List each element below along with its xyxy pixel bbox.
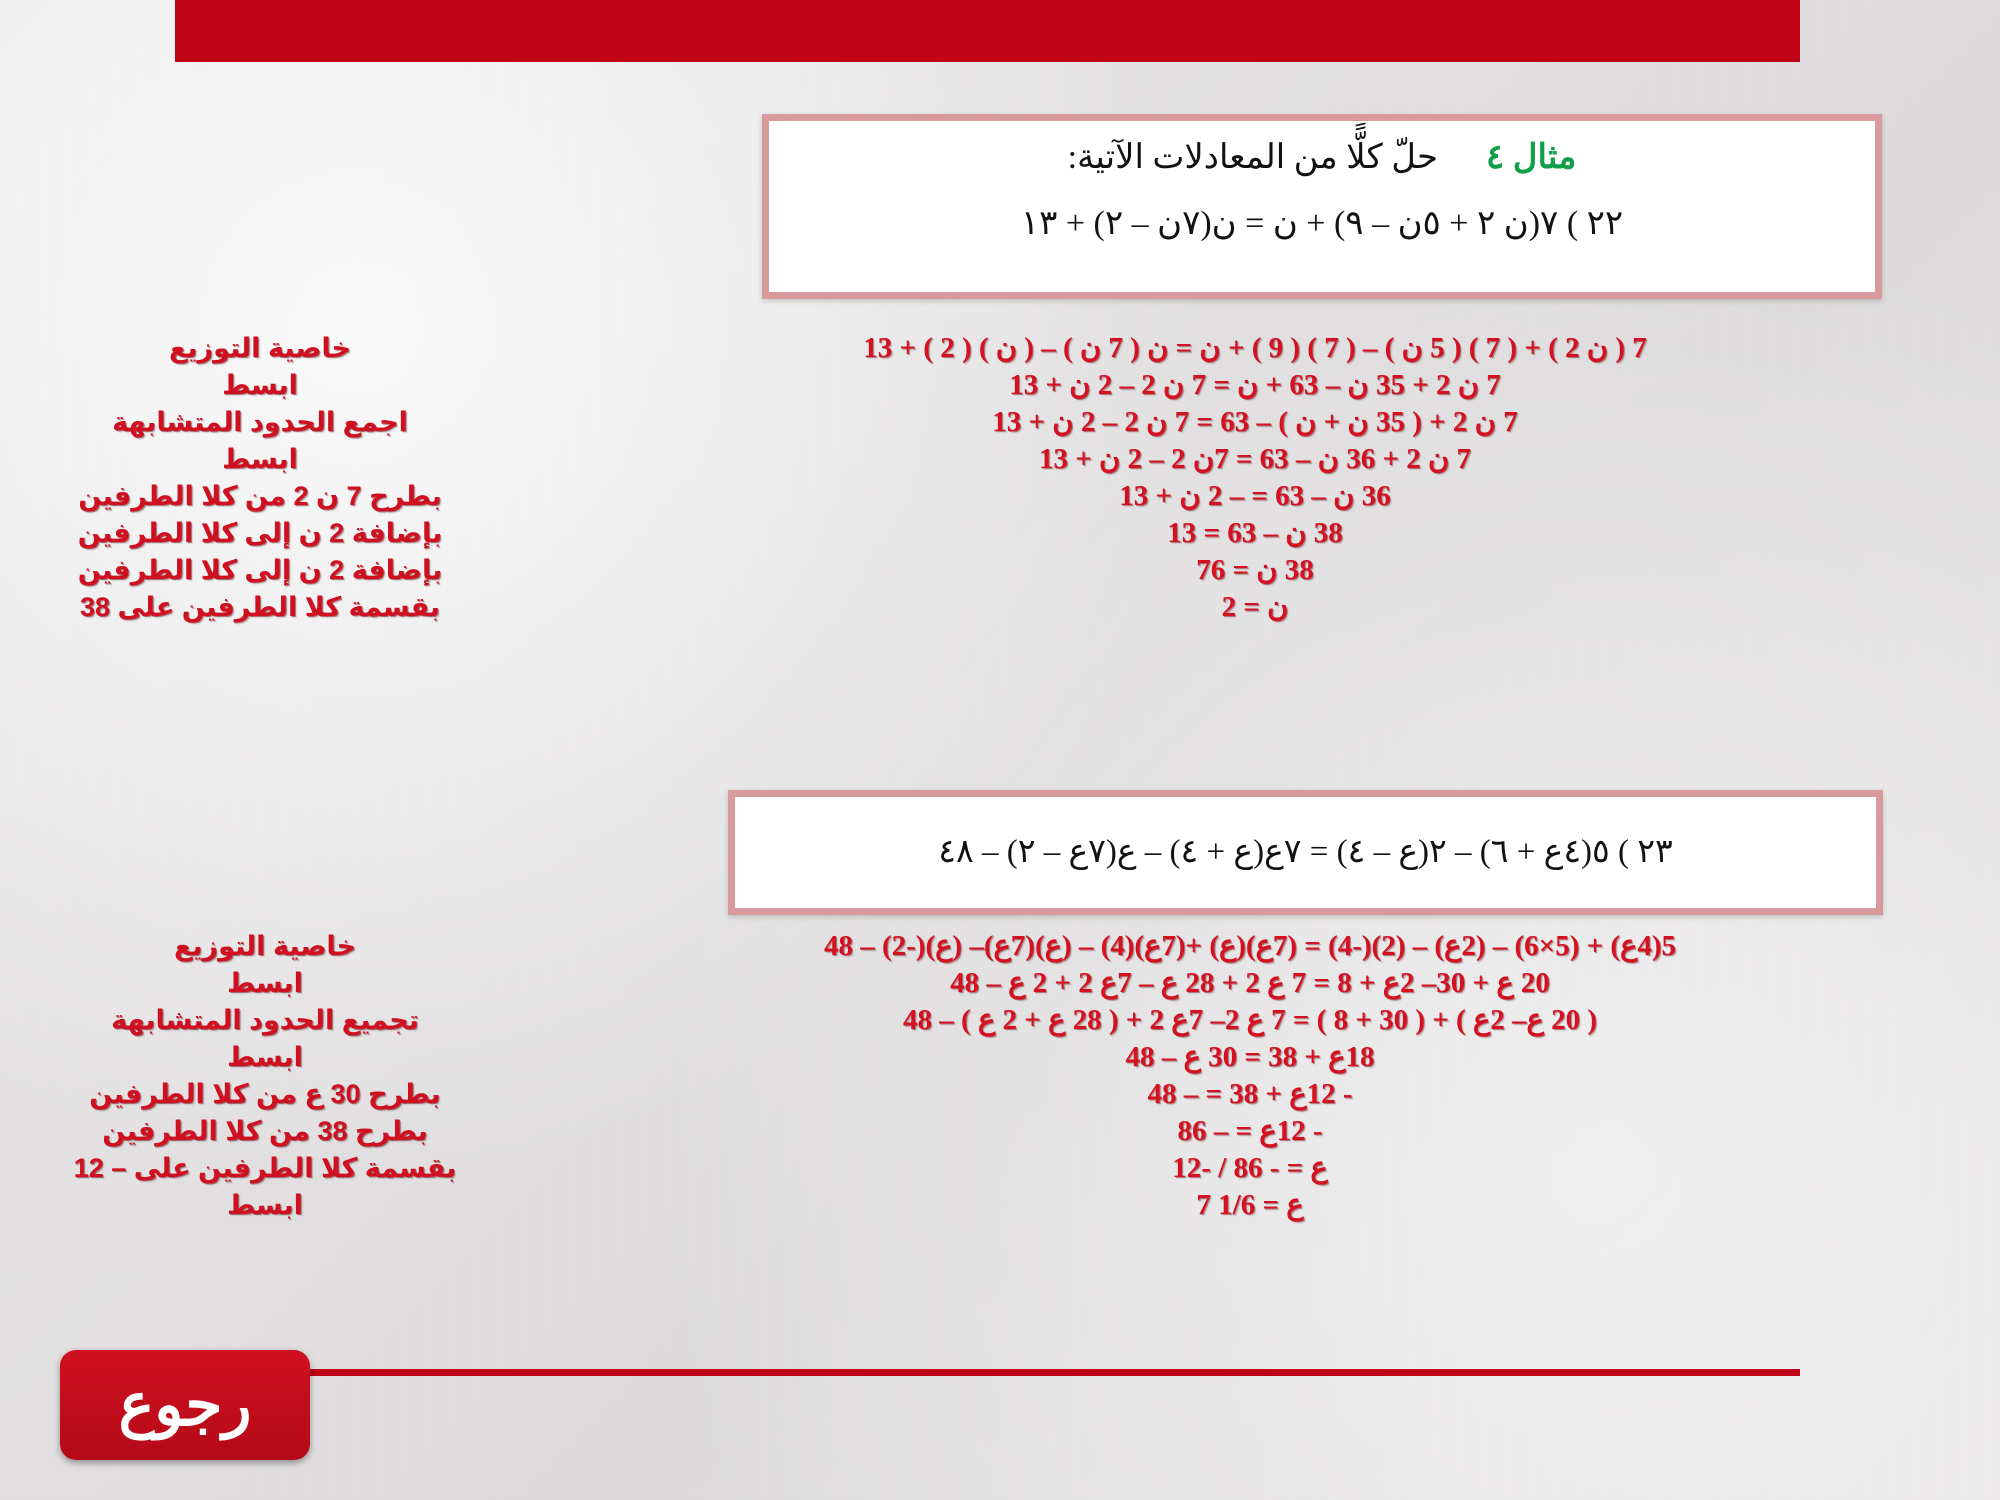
solution-2-reason-4: ابسط: [30, 1042, 500, 1073]
solution-1-row-8: ن = 2 بقسمة كلا الطرفين على 38: [40, 589, 1960, 626]
solution-1-row-3: 7 ن 2 + ( 35 ن + ن ) – 63 = 7 ن 2 – 2 ن …: [40, 404, 1960, 441]
equation-cell: ( 20 ع– 2ع ) + ( 30 + 8 ) = 7 ع 2– 7ع 2 …: [500, 1002, 1960, 1037]
slide-root: مثال ٤ حلّ كلًّا من المعادلات الآتية: ٢٢…: [0, 0, 2000, 1500]
equation-cell: - 12ع + 38 = – 48: [500, 1076, 1960, 1111]
solution-2-equation-5: - 12ع + 38 = – 48: [1147, 1078, 1352, 1110]
equation-cell: 38 ن = 76: [480, 552, 1960, 587]
solution-2-equation-7: ع = - 86 / -12: [1172, 1152, 1327, 1184]
solution-1-reason-6: بإضافة 2 ن إلى كلا الطرفين: [40, 518, 480, 549]
solution-block-1: 7 ( ن 2 ) + ( 7 ) ( 5 ن ) – ( 7 ) ( 9 ) …: [40, 330, 1960, 626]
equation-cell: ن = 2: [480, 589, 1960, 624]
solution-2-row-8: ع = 1/6 7 ابسط: [30, 1187, 1960, 1224]
solution-2-reason-1: خاصية التوزيع: [30, 931, 500, 962]
equation-cell: 5(4ع) + (5×6) – (2ع) – (2)(-4) = (7ع)(ع)…: [500, 928, 1960, 963]
solution-1-equation-8: ن = 2: [1222, 591, 1289, 623]
solution-2-row-5: - 12ع + 38 = – 48 بطرح 30 ع من كلا الطرف…: [30, 1076, 1960, 1113]
equation-cell: 7 ن 2 + 35 ن – 63 + ن = 7 ن 2 – 2 ن + 13: [480, 367, 1960, 402]
solution-2-row-7: ع = - 86 / -12 بقسمة كلا الطرفين على – 1…: [30, 1150, 1960, 1187]
problem-2-equation: ٢٣ ) ٥(٤ع + ٦) – ٢(ع – ٤) = ٧ع(ع + ٤) – …: [735, 831, 1876, 871]
equation-cell: 36 ن – 63 = – 2 ن + 13: [480, 478, 1960, 513]
solution-2-row-4: 18ع + 38 = 30 ع – 48 ابسط: [30, 1039, 1960, 1076]
solution-1-row-5: 36 ن – 63 = – 2 ن + 13 بطرح 7 ن 2 من كلا…: [40, 478, 1960, 515]
problem-box-2: ٢٣ ) ٥(٤ع + ٦) – ٢(ع – ٤) = ٧ع(ع + ٤) – …: [728, 790, 1883, 915]
back-button[interactable]: رجوع: [60, 1350, 310, 1460]
solution-1-equation-2: 7 ن 2 + 35 ن – 63 + ن = 7 ن 2 – 2 ن + 13: [1009, 369, 1501, 401]
solution-1-reason-5: بطرح 7 ن 2 من كلا الطرفين: [40, 481, 480, 512]
solution-2-row-6: - 12ع = – 86 بطرح 38 من كلا الطرفين: [30, 1113, 1960, 1150]
solution-2-reason-6: بطرح 38 من كلا الطرفين: [30, 1116, 500, 1147]
solution-2-reason-7: بقسمة كلا الطرفين على – 12: [30, 1153, 500, 1184]
solution-2-row-1: 5(4ع) + (5×6) – (2ع) – (2)(-4) = (7ع)(ع)…: [30, 928, 1960, 965]
solution-1-row-4: 7 ن 2 + 36 ن – 63 = 7ن 2 – 2 ن + 13 ابسط: [40, 441, 1960, 478]
solution-2-equation-1: 5(4ع) + (5×6) – (2ع) – (2)(-4) = (7ع)(ع)…: [824, 930, 1676, 962]
solution-1-equation-6: 38 ن – 63 = 13: [1167, 517, 1343, 549]
bottom-red-rule: [310, 1369, 1800, 1376]
equation-cell: ع = - 86 / -12: [500, 1150, 1960, 1185]
equation-cell: 7 ( ن 2 ) + ( 7 ) ( 5 ن ) – ( 7 ) ( 9 ) …: [480, 330, 1960, 365]
solution-1-equation-7: 38 ن = 76: [1196, 554, 1314, 586]
solution-2-row-2: 20 ع + 30– 2ع + 8 = 7 ع 2 + 28 ع – 7ع 2 …: [30, 965, 1960, 1002]
solution-1-equation-4: 7 ن 2 + 36 ن – 63 = 7ن 2 – 2 ن + 13: [1039, 443, 1471, 475]
problem-1-equation: ٢٢ ) ٧(ن ٢ + ٥ن – ٩) + ن = ن(٧ن – ٢) + ١…: [769, 203, 1875, 243]
equation-cell: 20 ع + 30– 2ع + 8 = 7 ع 2 + 28 ع – 7ع 2 …: [500, 965, 1960, 1000]
top-red-banner: [175, 0, 1800, 62]
equation-cell: 18ع + 38 = 30 ع – 48: [500, 1039, 1960, 1074]
solution-2-reason-2: ابسط: [30, 968, 500, 999]
solution-1-row-6: 38 ن – 63 = 13 بإضافة 2 ن إلى كلا الطرفي…: [40, 515, 1960, 552]
solution-2-equation-2: 20 ع + 30– 2ع + 8 = 7 ع 2 + 28 ع – 7ع 2 …: [950, 967, 1550, 999]
equation-cell: - 12ع = – 86: [500, 1113, 1960, 1148]
example-label: مثال ٤: [1486, 137, 1576, 177]
solution-1-equation-5: 36 ن – 63 = – 2 ن + 13: [1119, 480, 1390, 512]
solution-2-reason-5: بطرح 30 ع من كلا الطرفين: [30, 1079, 500, 1110]
solution-1-equation-3: 7 ن 2 + ( 35 ن + ن ) – 63 = 7 ن 2 – 2 ن …: [992, 406, 1517, 438]
solution-2-equation-4: 18ع + 38 = 30 ع – 48: [1126, 1041, 1375, 1073]
solution-2-equation-6: - 12ع = – 86: [1177, 1115, 1322, 1147]
problem-1-instruction: حلّ كلًّا من المعادلات الآتية:: [1068, 137, 1438, 177]
solution-1-reason-7: بإضافة 2 ن إلى كلا الطرفين: [40, 555, 480, 586]
problem-1-title-row: مثال ٤ حلّ كلًّا من المعادلات الآتية:: [769, 137, 1875, 177]
equation-cell: 7 ن 2 + ( 35 ن + ن ) – 63 = 7 ن 2 – 2 ن …: [480, 404, 1960, 439]
solution-2-reason-3: تجميع الحدود المتشابهة: [30, 1005, 500, 1036]
problem-box-1: مثال ٤ حلّ كلًّا من المعادلات الآتية: ٢٢…: [762, 114, 1882, 299]
solution-2-reason-8: ابسط: [30, 1190, 500, 1221]
solution-2-equation-3: ( 20 ع– 2ع ) + ( 30 + 8 ) = 7 ع 2– 7ع 2 …: [903, 1004, 1597, 1036]
equation-cell: 7 ن 2 + 36 ن – 63 = 7ن 2 – 2 ن + 13: [480, 441, 1960, 476]
solution-2-row-3: ( 20 ع– 2ع ) + ( 30 + 8 ) = 7 ع 2– 7ع 2 …: [30, 1002, 1960, 1039]
solution-1-reason-4: ابسط: [40, 444, 480, 475]
solution-1-reason-3: اجمع الحدود المتشابهة: [40, 407, 480, 438]
equation-cell: 38 ن – 63 = 13: [480, 515, 1960, 550]
back-button-label: رجوع: [119, 1370, 252, 1440]
equation-cell: ع = 1/6 7: [500, 1187, 1960, 1222]
solution-2-equation-8: ع = 1/6 7: [1196, 1189, 1303, 1221]
solution-1-reason-2: ابسط: [40, 370, 480, 401]
solution-1-reason-1: خاصية التوزيع: [40, 333, 480, 364]
solution-1-row-2: 7 ن 2 + 35 ن – 63 + ن = 7 ن 2 – 2 ن + 13…: [40, 367, 1960, 404]
solution-1-row-7: 38 ن = 76 بإضافة 2 ن إلى كلا الطرفين: [40, 552, 1960, 589]
solution-1-row-1: 7 ( ن 2 ) + ( 7 ) ( 5 ن ) – ( 7 ) ( 9 ) …: [40, 330, 1960, 367]
solution-1-reason-8: بقسمة كلا الطرفين على 38: [40, 592, 480, 623]
solution-1-equation-1: 7 ( ن 2 ) + ( 7 ) ( 5 ن ) – ( 7 ) ( 9 ) …: [863, 332, 1646, 364]
solution-block-2: 5(4ع) + (5×6) – (2ع) – (2)(-4) = (7ع)(ع)…: [30, 928, 1960, 1224]
